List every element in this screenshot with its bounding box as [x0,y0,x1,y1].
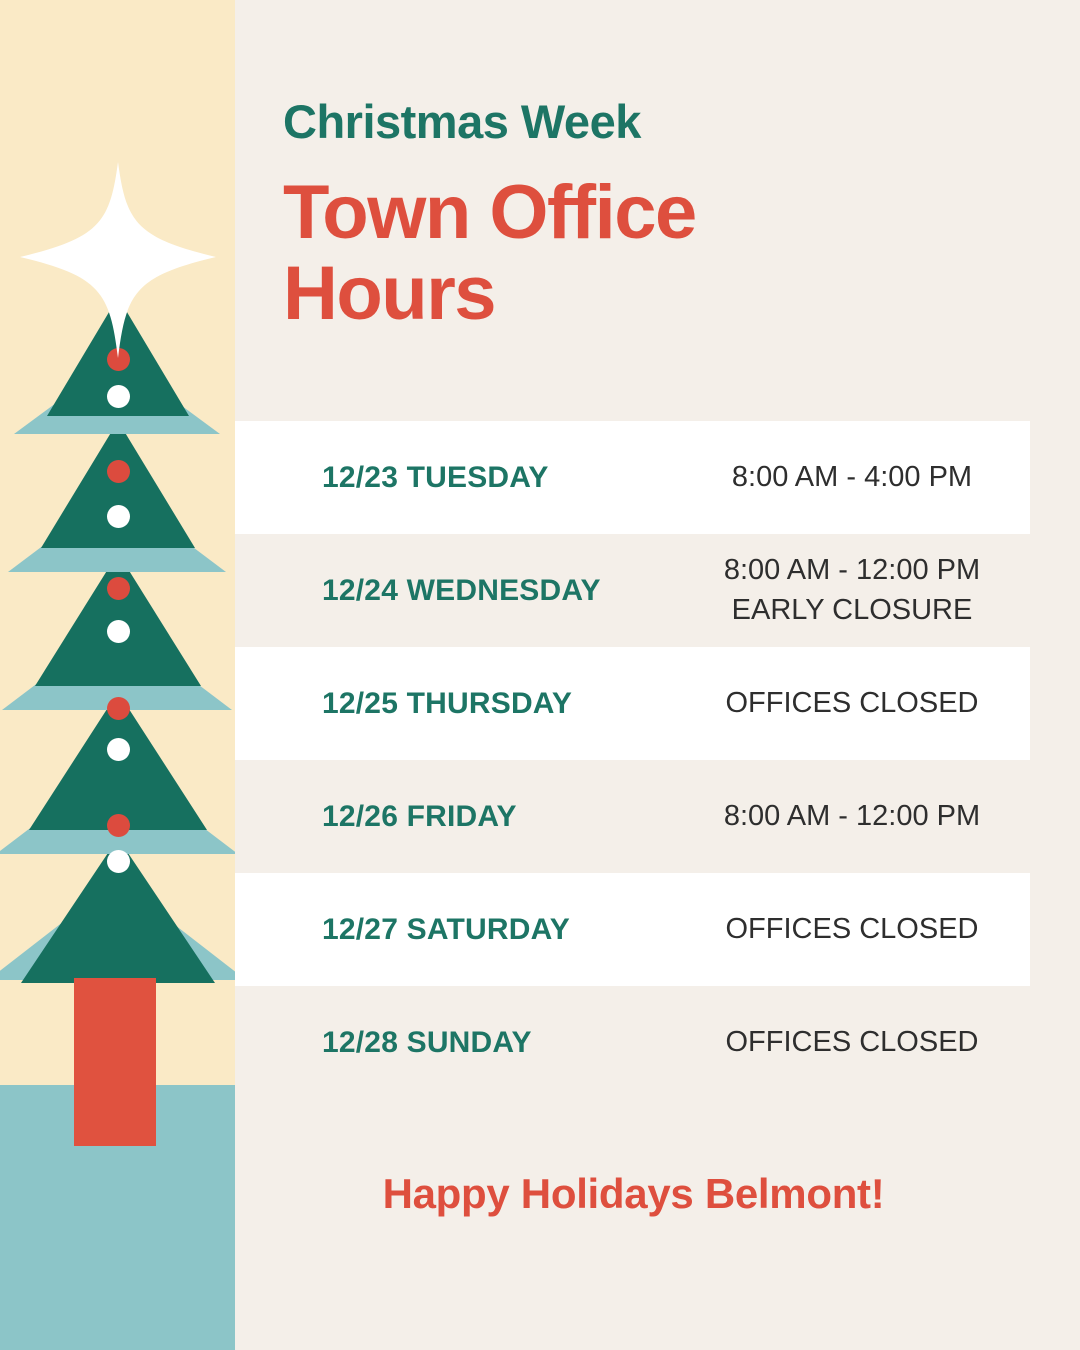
schedule-hours: OFFICES CLOSED [672,910,1032,949]
table-row: 12/24 WEDNESDAY 8:00 AM - 12:00 PM EARLY… [235,534,1080,647]
schedule-day: 12/24 WEDNESDAY [322,574,601,608]
schedule-table: 12/23 TUESDAY 8:00 AM - 4:00 PM 12/24 WE… [235,421,1080,1099]
ornament-white-4 [107,738,130,761]
tree-trunk [74,978,156,1146]
table-row: 12/25 THURSDAY OFFICES CLOSED [235,647,1030,760]
holiday-hours-poster: Christmas Week Town Office Hours 12/23 T… [0,0,1080,1350]
ornament-white-2 [107,505,130,528]
footer-message: Happy Holidays Belmont! [235,1170,1032,1218]
schedule-day: 12/28 SUNDAY [322,1026,532,1060]
schedule-hours: OFFICES CLOSED [672,684,1032,723]
decorative-left-panel [0,0,235,1350]
page-title: Town Office Hours [283,172,843,335]
ornament-white-5 [107,850,130,873]
schedule-hours: 8:00 AM - 12:00 PM EARLY CLOSURE [672,551,1032,629]
schedule-hours: 8:00 AM - 4:00 PM [672,458,1032,497]
schedule-day: 12/27 SATURDAY [322,913,570,947]
table-row: 12/27 SATURDAY OFFICES CLOSED [235,873,1030,986]
tree-tier-2 [41,421,195,548]
ornament-red-5 [107,814,130,837]
ornament-red-2 [107,460,130,483]
star-icon [18,160,218,360]
schedule-day: 12/25 THURSDAY [322,687,572,721]
table-row: 12/23 TUESDAY 8:00 AM - 4:00 PM [235,421,1030,534]
schedule-day: 12/26 FRIDAY [322,800,517,834]
ornament-red-4 [107,697,130,720]
ornament-white-3 [107,620,130,643]
content-area: Christmas Week Town Office Hours 12/23 T… [235,0,1080,1350]
schedule-hours: 8:00 AM - 12:00 PM [672,797,1032,836]
ornament-white-1 [107,385,130,408]
table-row: 12/26 FRIDAY 8:00 AM - 12:00 PM [235,760,1080,873]
schedule-day: 12/23 TUESDAY [322,461,549,495]
ornament-red-3 [107,577,130,600]
eyebrow-title: Christmas Week [283,94,641,149]
schedule-hours: OFFICES CLOSED [672,1023,1032,1062]
table-row: 12/28 SUNDAY OFFICES CLOSED [235,986,1080,1099]
